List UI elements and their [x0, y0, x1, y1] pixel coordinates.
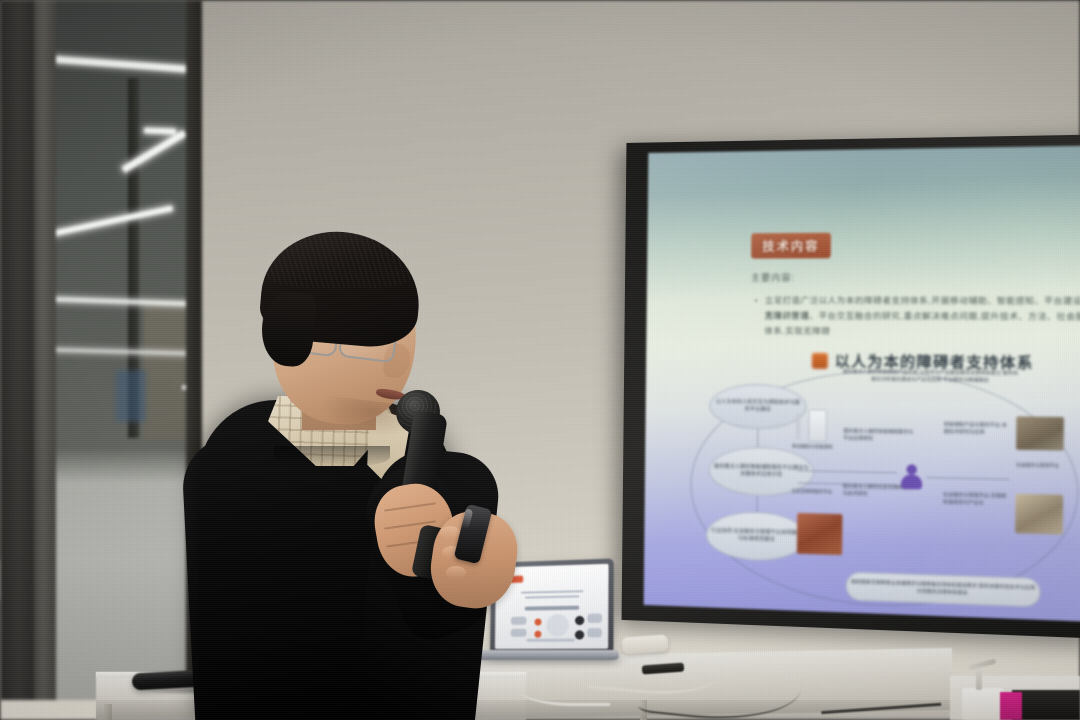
ceiling-light-strip [56, 55, 190, 75]
screen-glare [644, 146, 1080, 622]
ceiling-light-strip [56, 205, 173, 237]
counter-dark-panel [1012, 690, 1080, 720]
hand-sanitizer-dispenser [962, 688, 1004, 720]
ceiling-light-spot [144, 127, 176, 134]
collar-shadow [274, 446, 390, 468]
reflected-blue-panel [116, 370, 146, 422]
partition-mullion [34, 0, 56, 700]
laptop-diagram-node [587, 628, 602, 637]
presenter [170, 240, 550, 720]
partition-frame-left [0, 0, 34, 700]
sanitizer-pump [976, 666, 982, 690]
knuckle-highlight [446, 566, 466, 579]
laptop-diagram-node [587, 614, 602, 623]
wall-television: 技术内容 主要内容: • 立足打造广泛以人为本的障碍者支持体系,开展移动辅助、智… [624, 143, 1080, 620]
knuckle-highlight [440, 526, 460, 539]
laptop-diagram-dark-dot [575, 616, 584, 625]
photo-scene: 技术内容 主要内容: • 立足打造广泛以人为本的障碍者支持体系,开展移动辅助、智… [0, 0, 1080, 720]
tv-screen: 技术内容 主要内容: • 立足打造广泛以人为本的障碍者支持体系,开展移动辅助、智… [644, 146, 1080, 622]
sanitizer-label [1000, 692, 1022, 720]
laptop-diagram-dark-dot [575, 630, 584, 639]
